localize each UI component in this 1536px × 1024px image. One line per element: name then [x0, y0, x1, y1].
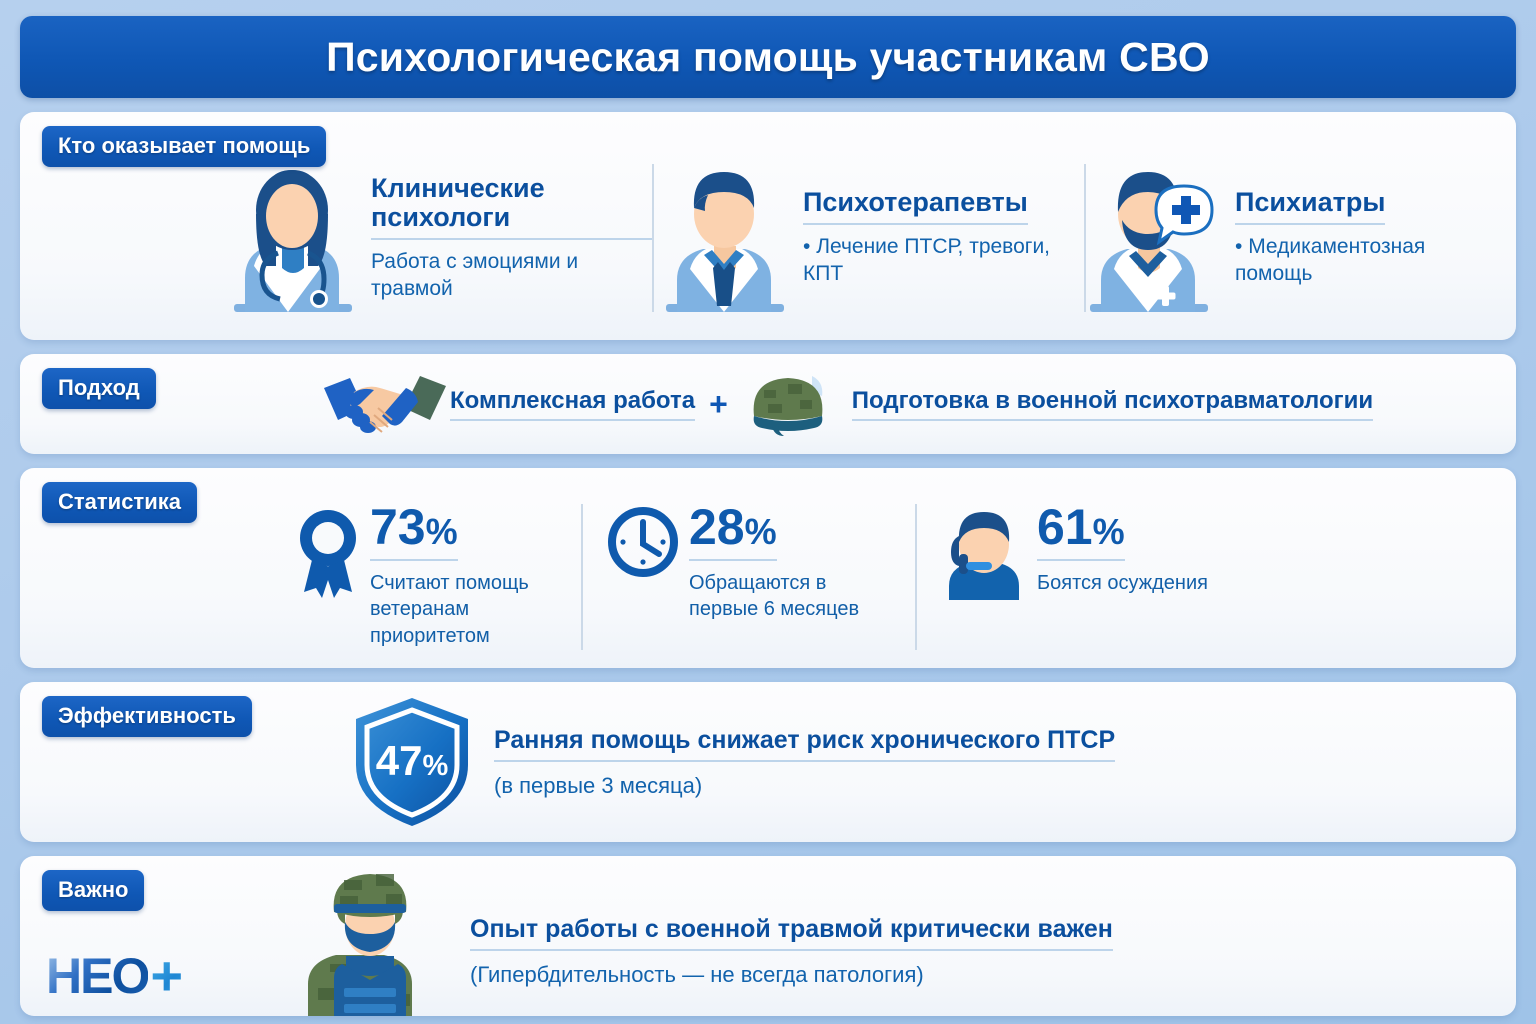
provider-description: • Медикаментозная помощь — [1235, 233, 1495, 288]
section-important: Важно — [20, 856, 1516, 1016]
stat-value: 28% — [689, 502, 777, 561]
person-headset-icon — [941, 506, 1027, 602]
stat-label: Боятся осуждения — [1037, 570, 1208, 596]
section-chip-providers: Кто оказывает помощь — [42, 126, 326, 167]
stat-unit: % — [1093, 511, 1125, 552]
section-statistics: Статистика 73% Считают помощь ветеранам … — [20, 468, 1516, 668]
clock-icon — [607, 506, 679, 578]
stat-item-first-six-months: 28% Обращаются в первые 6 месяцев — [581, 502, 915, 652]
provider-psychiatrists: Психиатры • Медикаментозная помощь — [1084, 158, 1516, 318]
bullet-marker: • — [1235, 235, 1248, 258]
brand-logo-plus-icon: + — [150, 948, 181, 1004]
stat-number: 73 — [370, 499, 426, 555]
stat-unit: % — [745, 511, 777, 552]
section-providers: Кто оказывает помощь — [20, 112, 1516, 340]
provider-psychotherapists: Психотерапевты • Лечение ПТСР, тревоги, … — [652, 158, 1084, 318]
soldier-avatar-icon — [290, 868, 450, 1016]
provider-description-text: Лечение ПТСР, тревоги, КПТ — [803, 235, 1050, 285]
section-chip-statistics: Статистика — [42, 482, 197, 523]
important-headline: Опыт работы с военной травмой критически… — [470, 915, 1113, 951]
military-helmet-icon — [742, 372, 838, 436]
page-title-bar: Психологическая помощь участникам СВО — [20, 16, 1516, 98]
stat-item-fear-of-judgement: 61% Боятся осуждения — [915, 502, 1234, 652]
provider-description-text: Медикаментозная помощь — [1235, 235, 1425, 285]
effectiveness-note: (в первые 3 месяца) — [494, 773, 1115, 799]
infographic-page: Психологическая помощь участникам СВО Кт… — [0, 0, 1536, 1024]
stat-item-priority: 73% Считают помощь ветеранам приоритетом — [270, 502, 581, 652]
provider-title: Клинические психологи — [371, 174, 652, 240]
approach-left-label: Комплексная работа — [450, 387, 695, 421]
section-chip-approach: Подход — [42, 368, 156, 409]
male-doctor-avatar-icon — [652, 158, 797, 318]
brand-logo-text: НЕО — [46, 951, 148, 1001]
stat-number: 28 — [689, 499, 745, 555]
brand-logo: НЕО + — [46, 948, 181, 1004]
provider-description: • Лечение ПТСР, тревоги, КПТ — [803, 233, 1063, 288]
effectiveness-headline: Ранняя помощь снижает риск хронического … — [494, 726, 1115, 762]
provider-title: Психотерапевты — [803, 188, 1028, 225]
page-title: Психологическая помощь участникам СВО — [326, 34, 1210, 81]
award-ribbon-icon — [296, 506, 360, 602]
stat-label: Обращаются в первые 6 месяцев — [689, 570, 889, 623]
shield-value: 47 — [376, 737, 423, 784]
stat-value: 61% — [1037, 502, 1125, 561]
important-note: (Гипербдительность — не всегда патология… — [470, 962, 1113, 988]
stat-label: Считают помощь ветеранам приоритетом — [370, 570, 555, 649]
stat-value: 73% — [370, 502, 458, 561]
provider-title: Психиатры — [1235, 188, 1385, 225]
section-effectiveness: Эффективность 47% — [20, 682, 1516, 842]
shield-unit: % — [422, 750, 448, 782]
stat-unit: % — [426, 511, 458, 552]
section-chip-effectiveness: Эффективность — [42, 696, 252, 737]
section-approach: Подход Комплексная работа + — [20, 354, 1516, 454]
stat-number: 61 — [1037, 499, 1093, 555]
handshake-icon — [320, 372, 450, 436]
approach-right-label: Подготовка в военной психотравматологии — [852, 387, 1373, 421]
bearded-doctor-avatar-icon — [1084, 158, 1229, 318]
shield-icon: 47% — [350, 695, 474, 829]
approach-plus-symbol: + — [709, 386, 728, 423]
female-doctor-avatar-icon — [220, 158, 365, 318]
provider-clinical-psychologists: Клинические психологи Работа с эмоциями … — [220, 158, 652, 318]
bullet-marker: • — [803, 235, 816, 258]
section-chip-important: Важно — [42, 870, 144, 911]
provider-description: Работа с эмоциями и травмой — [371, 248, 631, 303]
